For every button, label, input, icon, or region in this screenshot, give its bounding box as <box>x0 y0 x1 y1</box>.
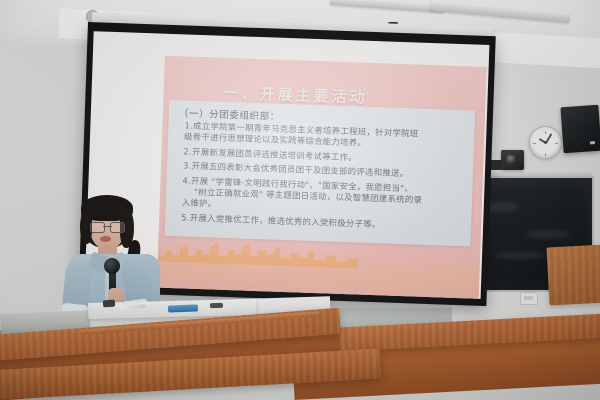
presenter-mouth <box>100 236 111 242</box>
blue-device-object[interactable] <box>168 304 198 312</box>
glasses-lens-right <box>110 222 125 233</box>
recording-camera <box>501 150 524 170</box>
slide-bullet-list: 1.成立学院第一期青年马克思主义者培养工程班，针对学院班 级骨干进行思想理论以及… <box>181 120 466 233</box>
glasses-icon <box>90 222 125 231</box>
clock-face <box>533 130 558 155</box>
clock-center-pin <box>544 141 547 144</box>
classroom-photo: 一、开展主要活动 （一）分团委组织部： 1.成立学院第一期青年马克思主义者培养工… <box>0 0 600 400</box>
dark-clicker-object[interactable] <box>103 300 115 308</box>
speaker-label <box>590 141 595 144</box>
dark-remote-object[interactable] <box>210 303 223 308</box>
desk-right-side <box>547 245 600 306</box>
microphone-icon <box>104 258 120 274</box>
glasses-lens-left <box>90 222 105 233</box>
power-outlet <box>520 292 538 305</box>
projected-slide: 一、开展主要活动 （一）分团委组织部： 1.成立学院第一期青年马克思主义者培养工… <box>156 56 486 299</box>
wall-clock <box>529 126 562 159</box>
wall-speaker-lower <box>560 105 600 154</box>
slide-content-card: （一）分团委组织部： 1.成立学院第一期青年马克思主义者培养工程班，针对学院班 … <box>165 100 476 247</box>
